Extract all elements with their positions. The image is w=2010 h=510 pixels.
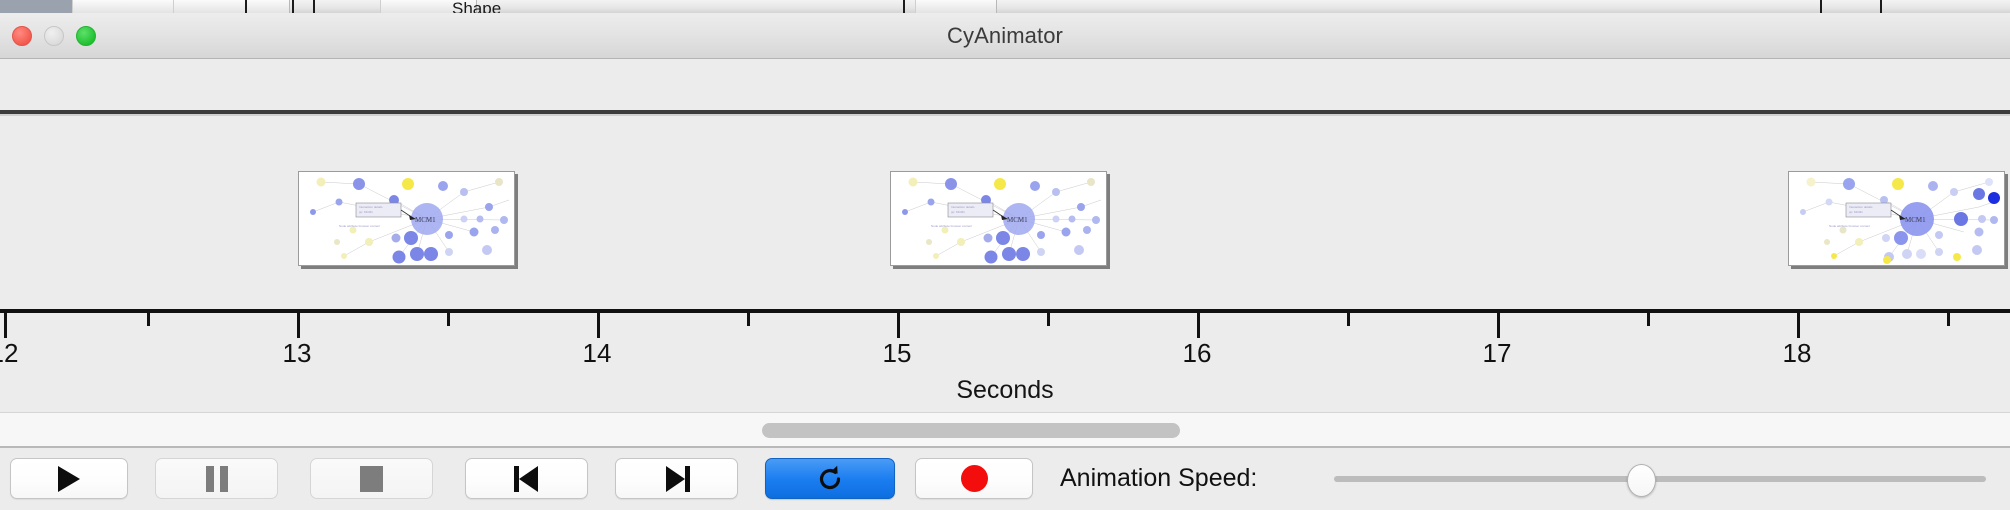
cyanimator-window: Shape CyAnimator Clear All Frames [0, 0, 2010, 510]
axis-tick-major [897, 313, 900, 338]
loop-icon [815, 464, 845, 494]
background-window-divider [1880, 0, 1882, 13]
network-thumbnail-image: Interaction details pp: MCM1 Node attrib… [891, 172, 1106, 265]
svg-text:Node attribute browser content: Node attribute browser content [931, 224, 972, 228]
axis-tick-major [297, 313, 300, 338]
frame-thumbnail-2[interactable]: Interaction details pp: MCM1 Node attrib… [890, 171, 1107, 266]
axis-tick-major [597, 313, 600, 338]
svg-text:Interaction details: Interaction details [1849, 205, 1873, 209]
axis-title: Seconds [0, 376, 2010, 405]
background-window-chunk [915, 0, 997, 13]
frame-thumbnail-1[interactable]: Interaction details pp: MCM1 Node attrib… [298, 171, 515, 266]
background-window-divider [245, 0, 247, 13]
axis-tick-minor [1947, 313, 1950, 326]
timeline-scrollbar[interactable] [0, 412, 2010, 448]
frame-thumbnail-3[interactable]: Interaction details pp: MCM1 Node attrib… [1788, 171, 2005, 266]
axis-tick-minor [1647, 313, 1650, 326]
play-button[interactable] [10, 458, 128, 499]
slider-thumb[interactable] [1627, 464, 1656, 497]
play-icon [58, 466, 80, 492]
background-window-divider [292, 0, 294, 13]
playback-controls: Animation Speed: [0, 448, 2010, 510]
background-window-selected-tab [0, 0, 72, 13]
background-window-strip: Shape [0, 0, 2010, 13]
window-title: CyAnimator [0, 13, 2010, 59]
maximize-button[interactable] [76, 26, 96, 46]
axis-tick-label: 18 [1783, 338, 1812, 369]
close-button[interactable] [12, 26, 32, 46]
stop-icon [360, 466, 383, 492]
network-hub-label: MCM1 [1007, 216, 1028, 224]
pause-icon [206, 466, 228, 492]
pause-button[interactable] [155, 458, 278, 499]
loop-button[interactable] [765, 458, 895, 499]
axis-tick-minor [747, 313, 750, 326]
axis-tick-minor [1347, 313, 1350, 326]
background-window-divider [903, 0, 905, 13]
network-hub-label: MCM1 [1905, 216, 1926, 224]
axis-tick-minor [447, 313, 450, 326]
previous-frame-button[interactable] [465, 458, 588, 499]
axis-tick-label: 17 [1483, 338, 1512, 369]
axis-tick-label: 15 [883, 338, 912, 369]
svg-text:pp: MCM1: pp: MCM1 [359, 210, 373, 214]
svg-text:Interaction details: Interaction details [359, 205, 383, 209]
background-window-chunk [173, 0, 290, 13]
background-window-divider [313, 0, 315, 13]
svg-text:pp: MCM1: pp: MCM1 [951, 210, 965, 214]
network-thumbnail-image: Interaction details pp: MCM1 Node attrib… [299, 172, 514, 265]
axis-tick-label: 16 [1183, 338, 1212, 369]
background-window-divider [1820, 0, 1822, 13]
skip-forward-icon [664, 466, 690, 492]
svg-text:Interaction details: Interaction details [951, 205, 975, 209]
window-controls [12, 26, 96, 46]
scrollbar-thumb[interactable] [762, 423, 1180, 438]
axis-tick-minor [147, 313, 150, 326]
axis-tick-label: 12 [0, 338, 18, 369]
stop-button[interactable] [310, 458, 433, 499]
next-frame-button[interactable] [615, 458, 738, 499]
background-window-label: Shape [452, 1, 501, 13]
axis-tick-label: 13 [283, 338, 312, 369]
network-hub-label: MCM1 [415, 216, 436, 224]
svg-text:Node attribute browser content: Node attribute browser content [339, 224, 380, 228]
svg-text:Node attribute browser content: Node attribute browser content [1829, 224, 1870, 228]
network-thumbnail-image: Interaction details pp: MCM1 Node attrib… [1789, 172, 2004, 265]
slider-track[interactable] [1334, 476, 1986, 482]
axis-tick-major [1797, 313, 1800, 338]
title-bar[interactable]: CyAnimator [0, 13, 2010, 59]
axis-tick-minor [1047, 313, 1050, 326]
record-button[interactable] [915, 458, 1033, 499]
animation-speed-label: Animation Speed: [1060, 458, 1257, 499]
axis-tick-label: 14 [583, 338, 612, 369]
timeline-axis [0, 309, 2010, 313]
record-icon [961, 465, 988, 492]
timeline-panel[interactable]: Interaction details pp: MCM1 Node attrib… [0, 116, 2010, 412]
axis-tick-major [1497, 313, 1500, 338]
axis-tick-major [4, 313, 7, 338]
background-window-chunk [72, 0, 174, 13]
svg-text:pp: MCM1: pp: MCM1 [1849, 210, 1863, 214]
skip-backward-icon [514, 466, 540, 492]
axis-tick-major [1197, 313, 1200, 338]
toolbar: Clear All Frames [0, 59, 2010, 110]
minimize-button[interactable] [44, 26, 64, 46]
animation-speed-slider[interactable] [1334, 458, 1986, 499]
